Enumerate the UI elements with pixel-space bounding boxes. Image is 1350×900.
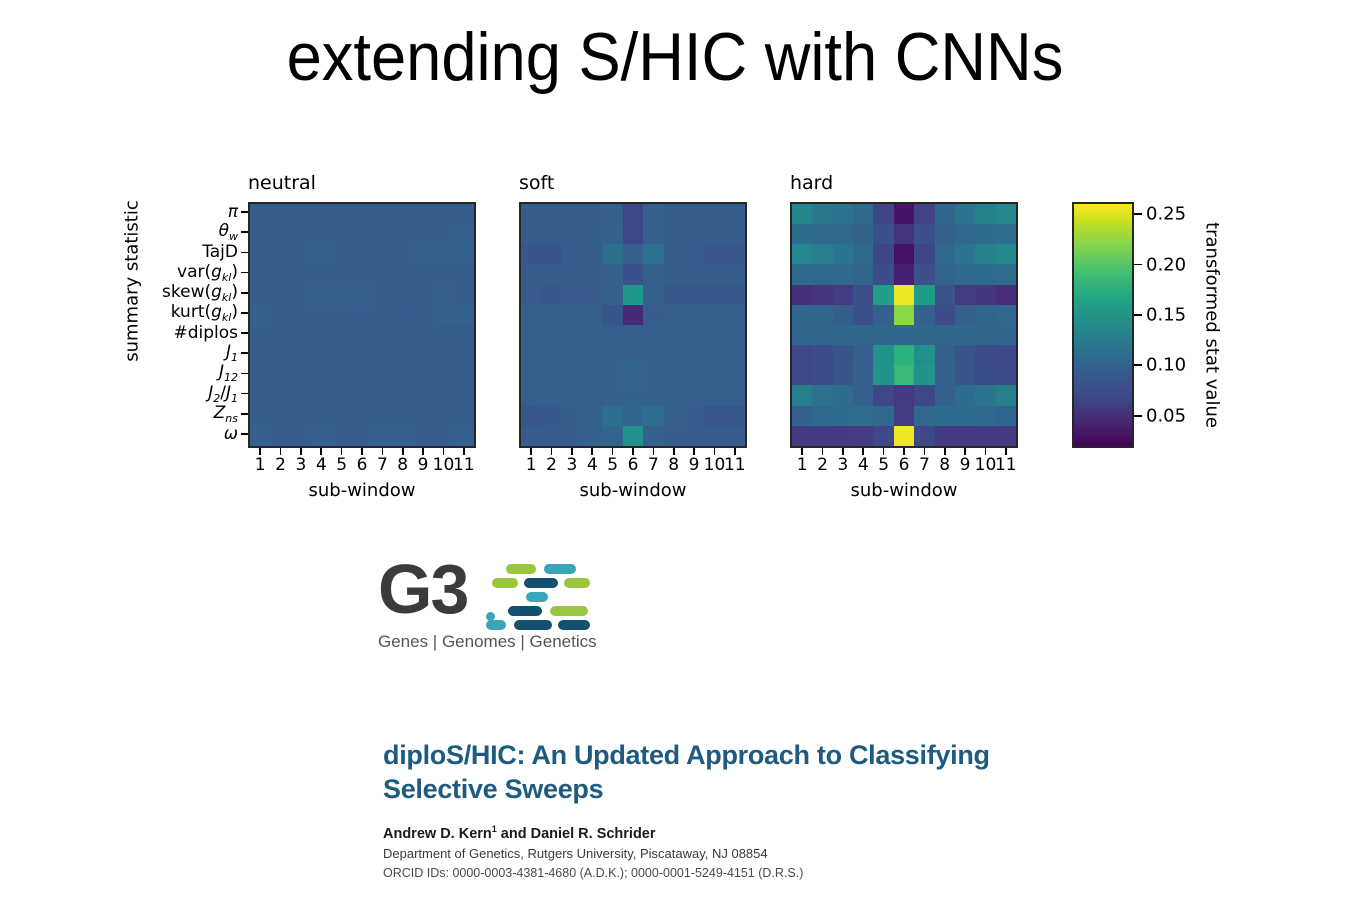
heatmap-cell <box>935 406 955 426</box>
heatmap-cell <box>541 325 561 345</box>
heatmap-cell <box>955 264 975 284</box>
heatmap-cell <box>291 305 311 325</box>
heatmap-cell <box>521 285 541 305</box>
heatmap-cell <box>541 285 561 305</box>
heatmap-cell <box>541 244 561 264</box>
heatmap-cell <box>914 345 934 365</box>
heatmap-cell <box>812 224 832 244</box>
heatmap-cell <box>521 345 541 365</box>
x-tick-mark <box>903 448 905 455</box>
x-tick-mark <box>862 448 864 455</box>
colorbar-tick-mark <box>1134 264 1142 266</box>
heatmap-cell <box>413 345 433 365</box>
heatmap-cell <box>311 426 331 446</box>
x-tick-label: 4 <box>587 455 598 475</box>
heatmap-cell <box>873 264 893 284</box>
heatmap-cell <box>955 325 975 345</box>
heatmap-cell <box>792 244 812 264</box>
heatmap-cell <box>643 426 663 446</box>
heatmap-cell <box>393 426 413 446</box>
heatmap-cell <box>792 224 812 244</box>
heatmap-cell <box>372 385 392 405</box>
heatmap-cell <box>873 345 893 365</box>
heatmap-cell <box>894 285 914 305</box>
x-tick-label: 8 <box>668 455 679 475</box>
heatmap-cell <box>812 204 832 224</box>
heatmap-cell <box>996 264 1016 284</box>
heatmap-cell <box>393 406 413 426</box>
heatmap-cell <box>311 365 331 385</box>
heatmap-cell <box>664 426 684 446</box>
heatmap-cell <box>623 385 643 405</box>
heatmap-cell <box>996 365 1016 385</box>
heatmap-cell <box>955 406 975 426</box>
heatmap-cell <box>684 385 704 405</box>
heatmap-cell <box>331 365 351 385</box>
y-tick-mark <box>241 332 248 334</box>
heatmap-cell <box>725 385 745 405</box>
heatmap-cell <box>250 285 270 305</box>
g3-tagline: Genes | Genomes | Genetics <box>378 632 597 652</box>
heatmap-cell <box>894 264 914 284</box>
heatmap-cell <box>996 406 1016 426</box>
x-tick-label: 1 <box>526 455 537 475</box>
heatmap-cell <box>873 325 893 345</box>
paper-title-line1: diploS/HIC: An Updated Approach to Class… <box>383 740 990 770</box>
heatmap-cell <box>291 204 311 224</box>
heatmap-cell <box>894 305 914 325</box>
heatmap-cell <box>413 264 433 284</box>
heatmap-cell <box>935 345 955 365</box>
heatmap-cell <box>623 426 643 446</box>
y-tick-mark <box>241 312 248 314</box>
heatmap-cell <box>521 204 541 224</box>
x-tick-label: 3 <box>566 455 577 475</box>
heatmap-cell <box>704 385 724 405</box>
x-tick-label: 7 <box>919 455 930 475</box>
y-tick-label: skew(gkl) <box>162 282 238 304</box>
heatmap-cell <box>250 345 270 365</box>
heatmap-cell <box>433 264 453 284</box>
y-tick-label: #diplos <box>173 323 238 343</box>
heatmap-cell <box>704 365 724 385</box>
heatmap-cell <box>812 285 832 305</box>
paper-citation: diploS/HIC: An Updated Approach to Class… <box>383 738 1143 880</box>
heatmap-cell <box>352 204 372 224</box>
heatmap-cell <box>602 385 622 405</box>
heatmap-cell <box>602 224 622 244</box>
heatmap-cell <box>684 285 704 305</box>
heatmap-cell <box>935 285 955 305</box>
heatmap-cell <box>873 204 893 224</box>
x-tick-mark <box>693 448 695 455</box>
heatmap-cell <box>352 385 372 405</box>
heatmap-cell <box>541 385 561 405</box>
heatmap-cell <box>393 325 413 345</box>
heatmap-cell <box>454 305 474 325</box>
heatmap-cell <box>521 224 541 244</box>
x-tick-label: 8 <box>939 455 950 475</box>
heatmap-cell <box>914 244 934 264</box>
g3-bar-segment <box>524 578 558 588</box>
heatmap-cell <box>894 325 914 345</box>
heatmap-cell <box>873 426 893 446</box>
g3-bar-segment <box>506 564 536 574</box>
heatmap-cell <box>331 224 351 244</box>
page-title: extending S/HIC with CNNs <box>47 18 1303 96</box>
y-tick-label: θw <box>219 221 238 243</box>
heatmap-cell <box>792 345 812 365</box>
heatmap-cell <box>833 426 853 446</box>
x-tick-label: 11 <box>453 455 475 475</box>
x-tick-label: 3 <box>295 455 306 475</box>
heatmap-cell <box>833 345 853 365</box>
x-tick-mark <box>964 448 966 455</box>
x-tick-label: 4 <box>316 455 327 475</box>
heatmap-cell <box>664 325 684 345</box>
y-tick-mark <box>241 272 248 274</box>
colorbar-tick-label: 0.05 <box>1146 405 1186 426</box>
heatmap-cell <box>270 325 290 345</box>
heatmap-cell <box>792 285 812 305</box>
heatmap-cell <box>311 244 331 264</box>
heatmap-cell <box>833 406 853 426</box>
heatmap-cell <box>352 285 372 305</box>
heatmap-cell <box>291 406 311 426</box>
heatmap-cell <box>541 305 561 325</box>
heatmap-cell <box>935 385 955 405</box>
g3-bar-segment <box>564 578 590 588</box>
x-tick-mark <box>259 448 261 455</box>
heatmap-cell <box>413 285 433 305</box>
heatmap-cell <box>935 325 955 345</box>
heatmap-cell <box>521 325 541 345</box>
x-tick-mark <box>571 448 573 455</box>
colorbar: 0.050.100.150.200.25 transformed stat va… <box>1072 202 1134 448</box>
heatmap-cell <box>684 264 704 284</box>
x-tick-label: 11 <box>724 455 746 475</box>
x-tick-label: 1 <box>797 455 808 475</box>
heatmap-cell <box>541 204 561 224</box>
heatmap-cell <box>602 285 622 305</box>
paper-author-first: Andrew D. Kern <box>383 826 492 842</box>
heatmap-cell <box>433 385 453 405</box>
y-tick-label: ω <box>224 424 238 444</box>
heatmap-cell <box>250 365 270 385</box>
y-tick-label: J1 <box>226 342 238 364</box>
heatmap-cell <box>873 385 893 405</box>
heatmap-cell <box>582 345 602 365</box>
x-tick-label: 7 <box>648 455 659 475</box>
heatmap-cell <box>704 345 724 365</box>
heatmap-cell <box>454 345 474 365</box>
x-tick-mark <box>632 448 634 455</box>
heatmap-cell <box>562 264 582 284</box>
heatmap-cell <box>996 345 1016 365</box>
heatmap-cell <box>562 365 582 385</box>
x-tick-label: 4 <box>858 455 869 475</box>
heatmap-cell <box>372 224 392 244</box>
heatmap-cell <box>914 224 934 244</box>
heatmap-cell <box>331 264 351 284</box>
heatmap-cell <box>582 365 602 385</box>
heatmap-cell <box>935 365 955 385</box>
x-tick-mark <box>382 448 384 455</box>
heatmap-cell <box>352 244 372 264</box>
heatmap-cell <box>914 325 934 345</box>
heatmap-cell <box>914 264 934 284</box>
heatmap-cell <box>250 224 270 244</box>
colorbar-tick-mark <box>1134 314 1142 316</box>
heatmap-cell <box>833 244 853 264</box>
heatmap-cell <box>725 426 745 446</box>
heatmap-cell <box>873 406 893 426</box>
heatmap-cell <box>975 426 995 446</box>
x-tick-mark <box>361 448 363 455</box>
heatmap-cell <box>602 325 622 345</box>
heatmap-cell <box>664 406 684 426</box>
x-tick-label: 10 <box>975 455 997 475</box>
heatmap-cell <box>853 285 873 305</box>
heatmap-cell <box>873 244 893 264</box>
heatmap-cell <box>853 365 873 385</box>
heatmap-cell <box>331 285 351 305</box>
heatmap-cell <box>643 204 663 224</box>
heatmap-cell <box>792 426 812 446</box>
heatmap-cell <box>352 224 372 244</box>
heatmap-cell <box>725 406 745 426</box>
heatmap-cell <box>955 365 975 385</box>
heatmap-cell <box>454 264 474 284</box>
heatmap-cell <box>250 406 270 426</box>
heatmap-cell <box>975 224 995 244</box>
heatmap-cell <box>372 325 392 345</box>
x-tick-mark <box>341 448 343 455</box>
heatmap-cell <box>562 224 582 244</box>
x-tick-mark <box>1005 448 1007 455</box>
heatmap-cell <box>250 305 270 325</box>
heatmap-cell <box>433 325 453 345</box>
heatmap-cell <box>684 224 704 244</box>
g3-bar-segment <box>544 564 576 574</box>
heatmap-cell <box>643 345 663 365</box>
heatmap-cell <box>873 305 893 325</box>
x-axis-title: sub-window <box>521 480 745 501</box>
heatmap-cell <box>996 224 1016 244</box>
heatmap-cell <box>291 426 311 446</box>
heatmap-cell <box>413 406 433 426</box>
x-tick-mark <box>463 448 465 455</box>
heatmap-cell <box>996 244 1016 264</box>
g3-bar-segment <box>558 620 590 630</box>
heatmap-cell <box>372 406 392 426</box>
heatmap-cell <box>433 224 453 244</box>
y-tick-mark <box>241 292 248 294</box>
heatmap-cell <box>792 264 812 284</box>
paper-orcid: ORCID IDs: 0000-0003-4381-4680 (A.D.K.);… <box>383 866 1143 880</box>
heatmap-cell <box>393 345 413 365</box>
g3-bar-segment <box>508 606 542 616</box>
heatmap-cell <box>393 264 413 284</box>
x-tick-label: 9 <box>960 455 971 475</box>
heatmap-cell <box>562 204 582 224</box>
heatmap-cell <box>684 325 704 345</box>
x-tick-label: 2 <box>546 455 557 475</box>
heatmap-cell <box>894 224 914 244</box>
heatmap-cell <box>955 244 975 264</box>
heatmap-cell <box>270 406 290 426</box>
heatmap-grid-neutral <box>248 202 476 448</box>
x-tick-label: 2 <box>275 455 286 475</box>
heatmap-cell <box>955 305 975 325</box>
heatmap-cell <box>894 244 914 264</box>
heatmap-cell <box>454 325 474 345</box>
heatmap-cell <box>582 264 602 284</box>
x-tick-mark <box>551 448 553 455</box>
heatmap-cell <box>250 204 270 224</box>
heatmap-cell <box>812 385 832 405</box>
heatmap-cell <box>935 204 955 224</box>
heatmap-cell <box>372 244 392 264</box>
heatmap-cell <box>792 204 812 224</box>
heatmap-cell <box>602 244 622 264</box>
heatmap-cell <box>935 224 955 244</box>
heatmap-cell <box>562 285 582 305</box>
heatmap-cell <box>433 204 453 224</box>
heatmap-cell <box>894 365 914 385</box>
heatmap-cell <box>704 305 724 325</box>
x-tick-label: 8 <box>397 455 408 475</box>
heatmap-cell <box>270 365 290 385</box>
paper-author-rest: and Daniel R. Schrider <box>497 826 656 842</box>
y-tick-label: J2/J1 <box>208 382 238 404</box>
x-tick-label: 10 <box>704 455 726 475</box>
heatmap-cell <box>413 385 433 405</box>
heatmap-cell <box>664 204 684 224</box>
x-tick-label: 6 <box>357 455 368 475</box>
heatmap-cell <box>914 305 934 325</box>
heatmap-cell <box>311 325 331 345</box>
x-tick-mark <box>443 448 445 455</box>
heatmap-cell <box>413 305 433 325</box>
heatmap-cell <box>996 325 1016 345</box>
heatmap-cell <box>873 285 893 305</box>
heatmap-cell <box>833 204 853 224</box>
heatmap-cell <box>664 224 684 244</box>
heatmap-cell <box>623 285 643 305</box>
heatmap-cell <box>311 285 331 305</box>
heatmap-cell <box>413 325 433 345</box>
heatmap-cell <box>792 385 812 405</box>
heatmap-cell <box>541 345 561 365</box>
heatmap-cell <box>812 365 832 385</box>
heatmap-cell <box>914 204 934 224</box>
colorbar-tick-marks <box>1134 204 1144 446</box>
heatmap-cell <box>623 204 643 224</box>
heatmap-cell <box>853 426 873 446</box>
heatmap-grid-hard <box>790 202 1018 448</box>
heatmap-cell <box>291 385 311 405</box>
y-tick-mark <box>241 211 248 213</box>
heatmap-cell <box>833 285 853 305</box>
heatmap-cell <box>270 305 290 325</box>
g3-wordmark: G3 <box>378 554 467 624</box>
heatmap-cell <box>684 345 704 365</box>
heatmap-cell <box>684 244 704 264</box>
heatmap-cell <box>352 325 372 345</box>
heatmap-cell <box>975 305 995 325</box>
x-tick-mark <box>673 448 675 455</box>
heatmap-cell <box>393 244 413 264</box>
g3-bar-segment <box>514 620 552 630</box>
heatmap-cell <box>331 385 351 405</box>
heatmap-cell <box>684 365 704 385</box>
heatmap-cell <box>996 305 1016 325</box>
heatmap-cell <box>413 224 433 244</box>
heatmap-cell <box>562 345 582 365</box>
heatmap-cell <box>331 345 351 365</box>
heatmap-cell <box>541 426 561 446</box>
x-tick-mark <box>714 448 716 455</box>
heatmap-cell <box>454 285 474 305</box>
heatmap-cell <box>643 325 663 345</box>
heatmap-cell <box>521 305 541 325</box>
heatmap-cell <box>602 345 622 365</box>
y-tick-label: π <box>228 202 238 222</box>
heatmap-cell <box>454 385 474 405</box>
heatmap-cell <box>454 406 474 426</box>
heatmap-cell <box>521 406 541 426</box>
heatmap-cell <box>664 264 684 284</box>
y-tick-mark <box>241 433 248 435</box>
x-tick-label: 11 <box>995 455 1017 475</box>
heatmap-cell <box>521 426 541 446</box>
heatmap-cell <box>664 244 684 264</box>
heatmap-cell <box>704 406 724 426</box>
heatmap-cell <box>311 305 331 325</box>
heatmap-cell <box>894 426 914 446</box>
heatmap-cell <box>602 264 622 284</box>
paper-title-line2: Selective Sweeps <box>383 774 603 804</box>
heatmap-grid-soft <box>519 202 747 448</box>
heatmap-cell <box>955 345 975 365</box>
heatmap-cell <box>975 325 995 345</box>
heatmap-cell <box>935 264 955 284</box>
g3-bar-segment <box>492 578 518 588</box>
heatmap-cell <box>562 385 582 405</box>
heatmap-cell <box>331 244 351 264</box>
heatmap-cell <box>454 244 474 264</box>
heatmap-cell <box>393 305 413 325</box>
heatmap-cell <box>812 426 832 446</box>
heatmap-cell <box>833 305 853 325</box>
heatmap-cell <box>250 325 270 345</box>
y-tick-labels: πθwTajDvar(gkl)skew(gkl)kurt(gkl)#diplos… <box>118 202 238 444</box>
heatmap-cell <box>582 285 602 305</box>
colorbar-tick-mark <box>1134 415 1142 417</box>
x-tick-mark <box>842 448 844 455</box>
heatmap-cell <box>996 426 1016 446</box>
heatmap-cell <box>914 426 934 446</box>
y-tick-mark <box>241 231 248 233</box>
y-tick-label: var(gkl) <box>177 261 238 283</box>
heatmap-cell <box>433 406 453 426</box>
x-tick-label: 7 <box>377 455 388 475</box>
heatmap-cell <box>372 264 392 284</box>
heatmap-cell <box>894 406 914 426</box>
x-tick-mark <box>402 448 404 455</box>
y-tick-label: kurt(gkl) <box>171 302 238 324</box>
